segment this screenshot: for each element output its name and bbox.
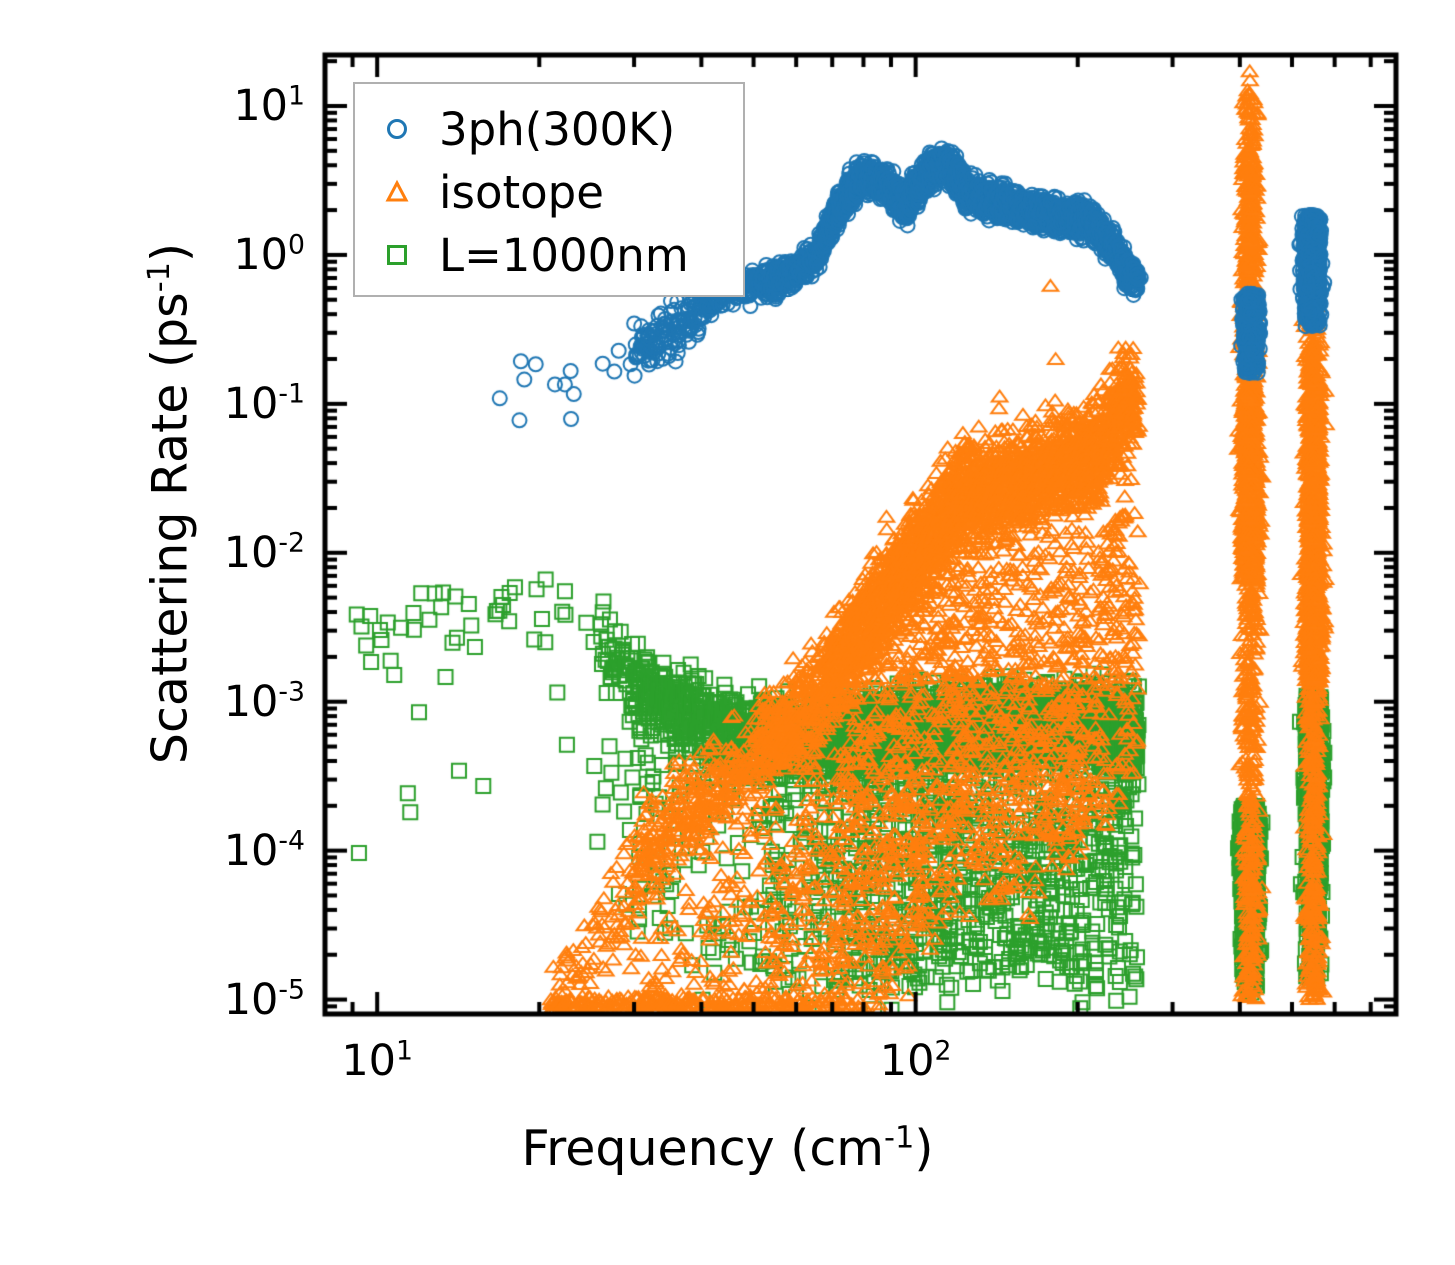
legend-marker-square-open-icon: [355, 240, 439, 270]
y-tick-label: 10-1: [140, 379, 305, 429]
legend: 3ph(300K)isotopeL=1000nm: [353, 82, 745, 297]
legend-entry-2[interactable]: L=1000nm: [355, 224, 743, 286]
x-tick-label: 102: [880, 1036, 952, 1086]
legend-marker-triangle-up-open-icon: [355, 177, 439, 207]
y-tick-label: 100: [140, 230, 305, 280]
y-tick-label: 10-2: [140, 528, 305, 578]
y-tick-label: 10-5: [140, 975, 305, 1025]
x-axis-label: Frequency (cm-1): [0, 1120, 1455, 1177]
legend-label: 3ph(300K): [439, 103, 675, 156]
x-tick-label: 101: [341, 1036, 413, 1086]
y-tick-label: 10-3: [140, 677, 305, 727]
legend-label: L=1000nm: [439, 229, 689, 282]
y-tick-label: 10-4: [140, 826, 305, 876]
phonon-scattering-figure: Scattering Rate (ps-1) Frequency (cm-1) …: [0, 0, 1455, 1265]
legend-label: isotope: [439, 166, 604, 219]
legend-marker-circle-open-icon: [355, 114, 439, 144]
y-tick-label: 101: [140, 81, 305, 131]
y-axis-label-wrapper: Scattering Rate (ps-1): [142, 54, 199, 954]
legend-entry-1[interactable]: isotope: [355, 161, 743, 223]
legend-entry-0[interactable]: 3ph(300K): [355, 98, 743, 160]
x-axis-label-exponent: -1: [884, 1121, 914, 1156]
